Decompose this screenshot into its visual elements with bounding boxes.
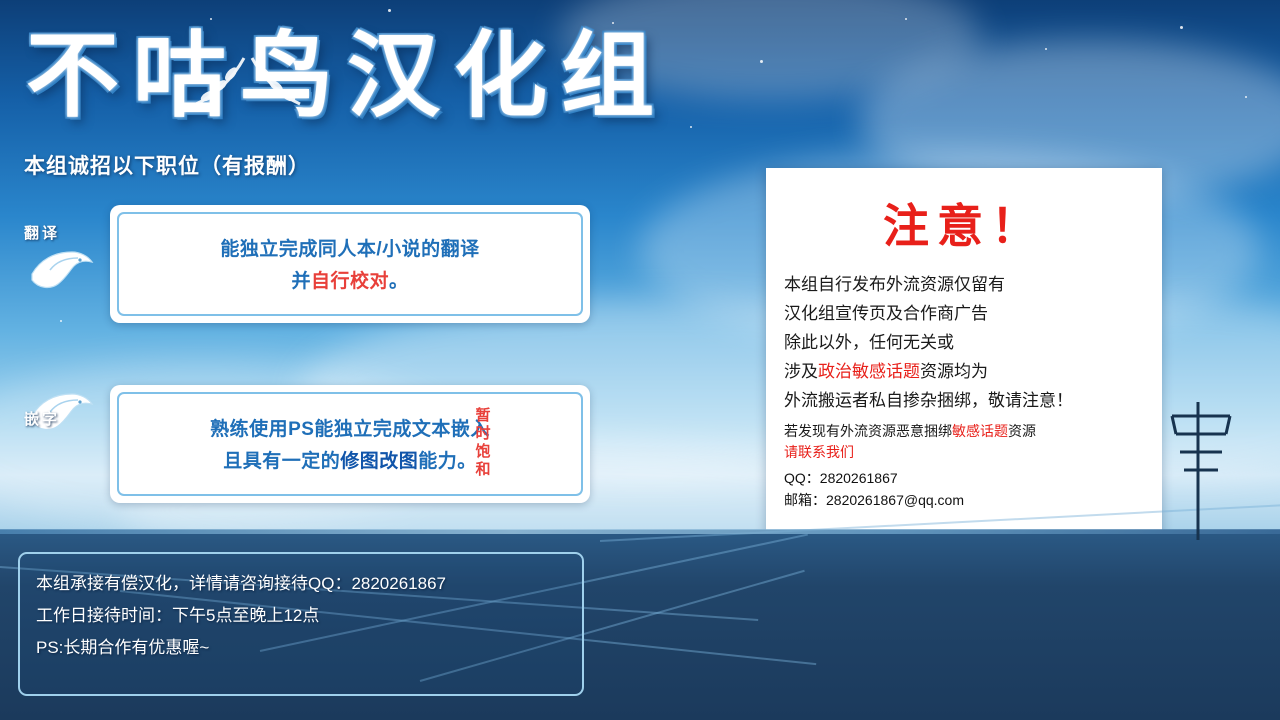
contact-us-link[interactable]: 请联系我们 xyxy=(784,442,1144,463)
info-line: 工作日接待时间：下午5点至晚上12点 xyxy=(20,600,582,632)
poster-canvas: 不咕鸟汉化组 本组诚招以下职位（有报酬） 翻译 能独立完成同人本/小说的翻译 并… xyxy=(0,0,1280,720)
role-line1-typesetter: 熟练使用PS能独立完成文本嵌入 xyxy=(110,415,590,445)
group-logo-text: 不咕鸟汉化组 xyxy=(26,14,756,139)
role-line2-suffix: 能力。 xyxy=(418,451,477,472)
role-line2-highlight: 修图改图 xyxy=(340,451,418,472)
notice-small-text: 若发现有外流资源恶意捆绑敏感话题资源 请联系我们 xyxy=(766,415,1162,463)
notice-body-line: 汉化组宣传页及合作商广告 xyxy=(784,299,1144,328)
notice-body-line: 本组自行发布外流资源仅留有 xyxy=(784,270,1144,299)
role-line2-prefix: 并 xyxy=(291,271,311,292)
roof-edge xyxy=(0,529,1280,534)
info-line: PS:长期合作有优惠喔~ xyxy=(20,632,582,664)
notice-body: 本组自行发布外流资源仅留有 汉化组宣传页及合作商广告 除此以外，任何无关或 涉及… xyxy=(766,266,1162,415)
notice-card: 注意！ 本组自行发布外流资源仅留有 汉化组宣传页及合作商广告 除此以外，任何无关… xyxy=(766,168,1162,550)
notice-small-line: 若发现有外流资源恶意捆绑敏感话题资源 xyxy=(784,421,1144,442)
notice-small-suffix: 资源 xyxy=(1008,423,1036,439)
contact-email: 邮箱：2820261867@qq.com xyxy=(784,489,1144,511)
role-line2-typesetter: 且具有一定的修图改图能力。 xyxy=(110,447,590,477)
notice-contact: QQ：2820261867 邮箱：2820261867@qq.com xyxy=(766,463,1162,511)
role-line2-suffix: 。 xyxy=(389,271,409,292)
notice-small-red: 敏感话题 xyxy=(952,423,1008,439)
notice-body-line: 除此以外，任何无关或 xyxy=(784,328,1144,357)
role-badge-translator: 翻译 xyxy=(24,222,60,243)
role-line2-highlight: 自行校对 xyxy=(311,271,389,292)
notice-line-suffix: 资源均为 xyxy=(920,362,988,381)
contact-qq: QQ：2820261867 xyxy=(784,467,1144,489)
role-line2-translator: 并自行校对。 xyxy=(110,267,590,297)
notice-title: 注意！ xyxy=(766,168,1162,266)
role-badge-typesetter: 嵌字 xyxy=(24,408,60,429)
role-line2-prefix: 且具有一定的 xyxy=(223,451,340,472)
dove-icon xyxy=(26,240,96,296)
notice-body-line: 外流搬运者私自掺杂捆绑，敬请注意！ xyxy=(784,386,1144,415)
status-badge-saturated: 暂时饱和 xyxy=(475,407,491,479)
role-line1-translator: 能独立完成同人本/小说的翻译 xyxy=(110,235,590,265)
role-banner-typesetter: 熟练使用PS能独立完成文本嵌入 且具有一定的修图改图能力。 暂时饱和 xyxy=(110,385,590,503)
notice-small-prefix: 若发现有外流资源恶意捆绑 xyxy=(784,423,952,439)
recruit-title: 本组诚招以下职位（有报酬） xyxy=(24,150,310,180)
info-box: 本组承接有偿汉化，详情请咨询接待QQ：2820261867 工作日接待时间：下午… xyxy=(18,552,584,696)
notice-body-line: 涉及政治敏感话题资源均为 xyxy=(784,357,1144,386)
info-line: 本组承接有偿汉化，详情请咨询接待QQ：2820261867 xyxy=(20,554,582,600)
notice-line-prefix: 涉及 xyxy=(784,362,818,381)
role-banner-translator: 能独立完成同人本/小说的翻译 并自行校对。 xyxy=(110,205,590,323)
notice-line-red: 政治敏感话题 xyxy=(818,362,920,381)
